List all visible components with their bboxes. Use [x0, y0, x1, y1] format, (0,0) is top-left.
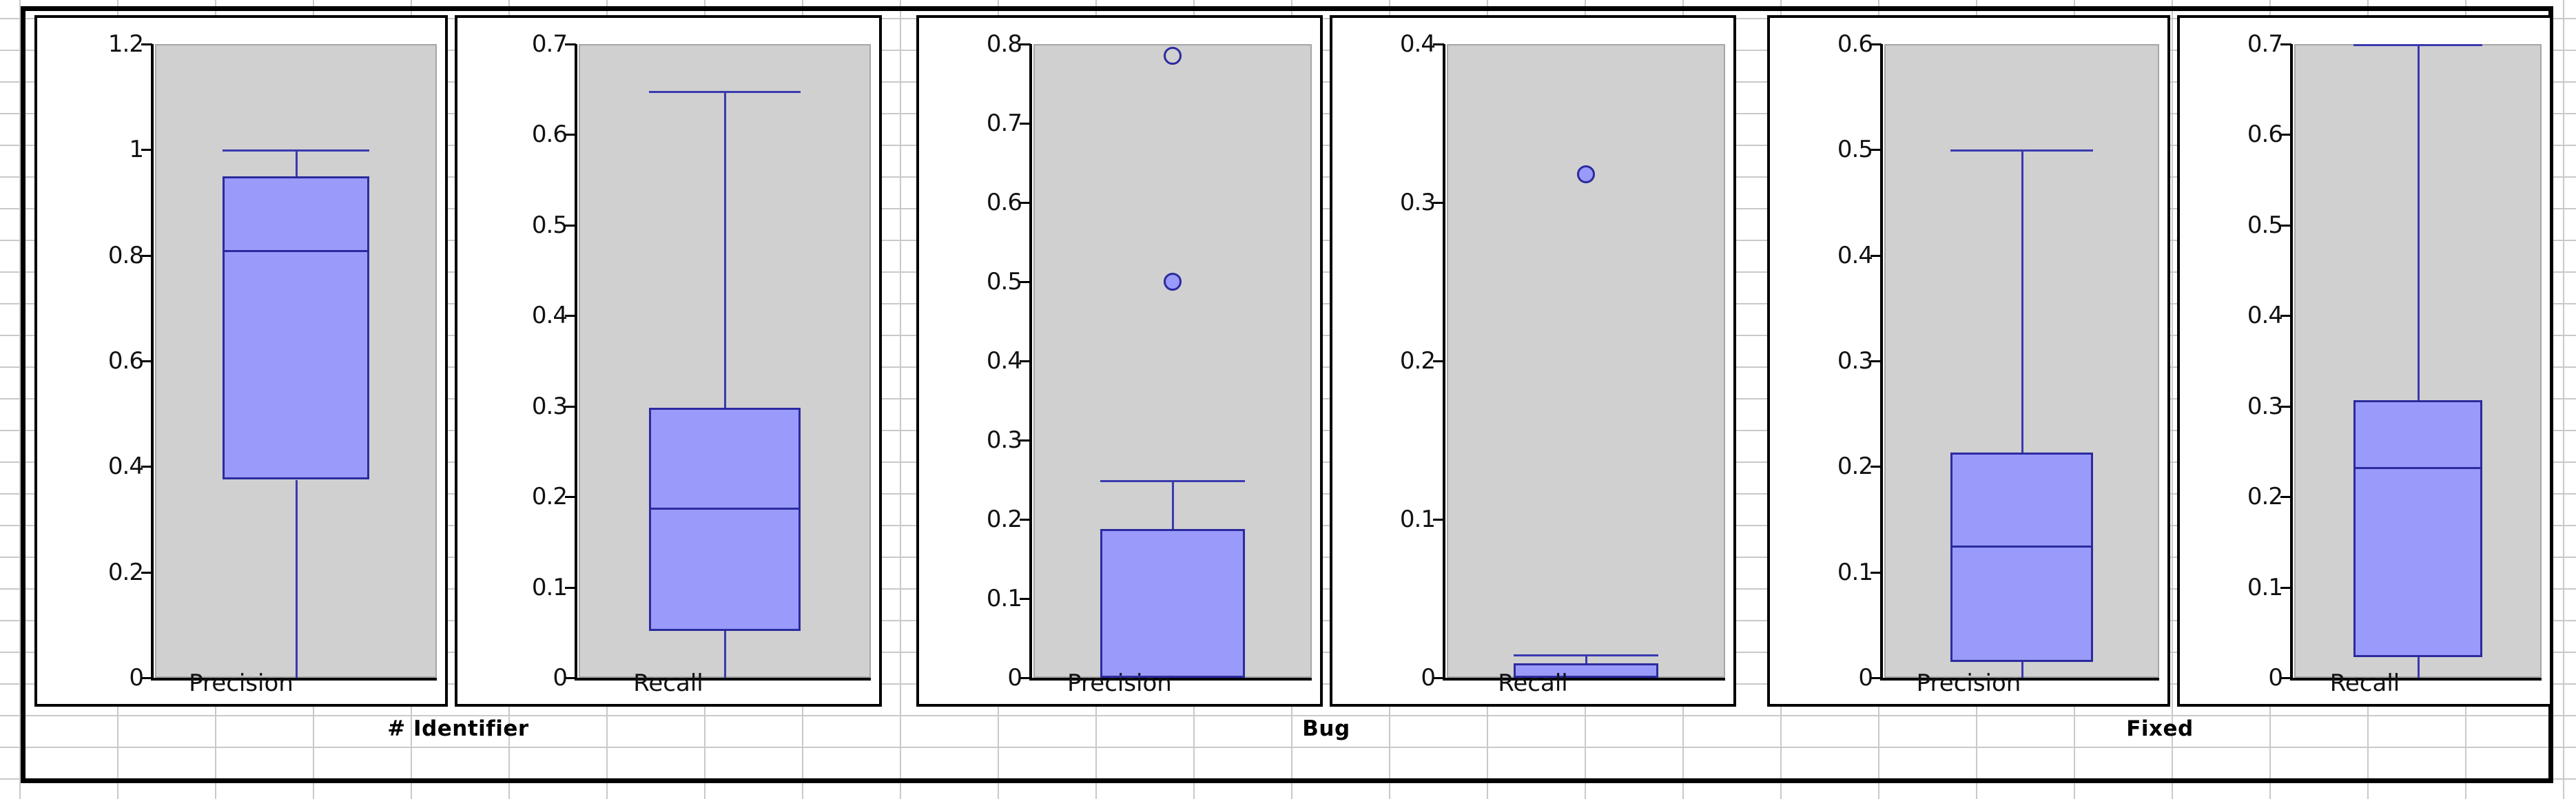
x-axis-label: Recall: [457, 670, 879, 697]
y-tick-label: 0.3: [460, 393, 567, 420]
upper-whisker-cap: [1950, 149, 2093, 152]
x-axis-label: Precision: [37, 670, 445, 697]
y-tick-label: 0.3: [1773, 347, 1873, 375]
y-tick-label: 0.4: [922, 347, 1022, 375]
y-tick-label: 0.7: [2183, 30, 2283, 58]
y-axis-line: [2290, 44, 2293, 679]
outlier-marker: [1164, 273, 1182, 291]
grid-row-line: [0, 778, 2576, 780]
x-axis-label: Precision: [919, 670, 1320, 697]
boxplot-panel-bug-precision: 00.10.20.30.40.50.60.70.8Precision: [916, 15, 1323, 707]
x-axis-label: Recall: [1332, 670, 1733, 697]
group-label: Bug: [916, 716, 1736, 741]
boxplot-panel-bug-recall: 00.10.20.30.4Recall: [1330, 15, 1736, 707]
upper-whisker-cap: [2353, 44, 2482, 46]
y-tick-label: 0.5: [460, 211, 567, 239]
upper-whisker-cap: [1100, 480, 1245, 482]
group-label: Fixed: [1767, 716, 2553, 741]
y-tick-label: 0.6: [40, 347, 143, 375]
y-tick-label: 0.4: [2183, 302, 2283, 329]
upper-whisker-line: [1172, 480, 1174, 529]
y-tick-label: 0.2: [460, 483, 567, 510]
y-tick-label: 0.2: [1773, 453, 1873, 480]
median-line: [1950, 546, 2093, 548]
upper-whisker-line: [2418, 44, 2420, 400]
boxplot-panel--identifier-recall: 00.10.20.30.40.50.60.7Recall: [455, 15, 882, 707]
group-label: # Identifier: [34, 716, 882, 741]
grid-column-line: [2563, 0, 2564, 799]
y-tick-label: 0.6: [460, 121, 567, 148]
y-tick-label: 0.1: [2183, 574, 2283, 601]
outlier-marker: [1577, 165, 1595, 183]
y-tick-label: 0.5: [1773, 136, 1873, 163]
y-tick-label: 0.5: [922, 268, 1022, 295]
x-axis-label: Recall: [2180, 670, 2550, 697]
y-tick-label: 0.5: [2183, 211, 2283, 239]
y-tick-label: 0.4: [1335, 30, 1435, 58]
x-axis-label: Precision: [1770, 670, 2167, 697]
y-tick-label: 1.2: [40, 30, 143, 58]
median-line: [2353, 467, 2482, 469]
y-tick-label: 0.3: [922, 426, 1022, 454]
upper-whisker-line: [2021, 149, 2023, 453]
upper-whisker-cap: [649, 91, 801, 93]
y-tick-label: 0.8: [40, 242, 143, 269]
box-iqr-rect: [223, 176, 369, 480]
boxplot-panel-fixed-precision: 00.10.20.30.40.50.6Precision: [1767, 15, 2170, 707]
grid-column-line: [19, 0, 21, 799]
box-iqr-rect: [1950, 453, 2093, 662]
upper-whisker-line: [724, 91, 726, 408]
grid-column-line: [900, 0, 901, 799]
y-tick-label: 1: [40, 136, 143, 163]
y-tick-label: 0.2: [2183, 483, 2283, 510]
y-tick-label: 0.6: [922, 189, 1022, 216]
y-tick-label: 0.7: [460, 30, 567, 58]
median-line: [649, 508, 801, 510]
box-iqr-rect: [2353, 400, 2482, 657]
y-tick-label: 0.4: [40, 453, 143, 480]
lower-whisker-line: [296, 480, 298, 678]
y-tick-label: 0.6: [1773, 30, 1873, 58]
y-tick-label: 0.7: [922, 110, 1022, 137]
y-tick-label: 0.8: [922, 30, 1022, 58]
y-tick-label: 0.4: [460, 302, 567, 329]
y-tick-label: 0.1: [460, 574, 567, 601]
y-tick-label: 0.1: [922, 585, 1022, 612]
y-tick-label: 0.1: [1335, 506, 1435, 533]
y-tick-label: 0.4: [1773, 242, 1873, 269]
y-tick-label: 0.2: [922, 506, 1022, 533]
upper-whisker-cap: [1514, 654, 1658, 656]
grid-row-line: [0, 747, 2576, 748]
box-iqr-rect: [649, 408, 801, 630]
y-axis-line: [575, 44, 577, 679]
y-tick-label: 0.2: [40, 559, 143, 586]
y-tick-label: 0.3: [1335, 189, 1435, 216]
upper-whisker-cap: [223, 149, 369, 152]
upper-whisker-line: [296, 149, 298, 176]
y-tick-label: 0.3: [2183, 393, 2283, 420]
y-tick-label: 0.2: [1335, 347, 1435, 375]
boxplot-panel--identifier-precision: 00.20.40.60.811.2Precision: [34, 15, 448, 707]
y-tick-label: 0.1: [1773, 559, 1873, 586]
median-line: [223, 250, 369, 252]
box-iqr-rect: [1100, 529, 1245, 678]
y-tick-label: 0.6: [2183, 121, 2283, 148]
boxplot-panel-fixed-recall: 00.10.20.30.40.50.60.7Recall: [2177, 15, 2553, 707]
plot-area: [1447, 44, 1725, 678]
